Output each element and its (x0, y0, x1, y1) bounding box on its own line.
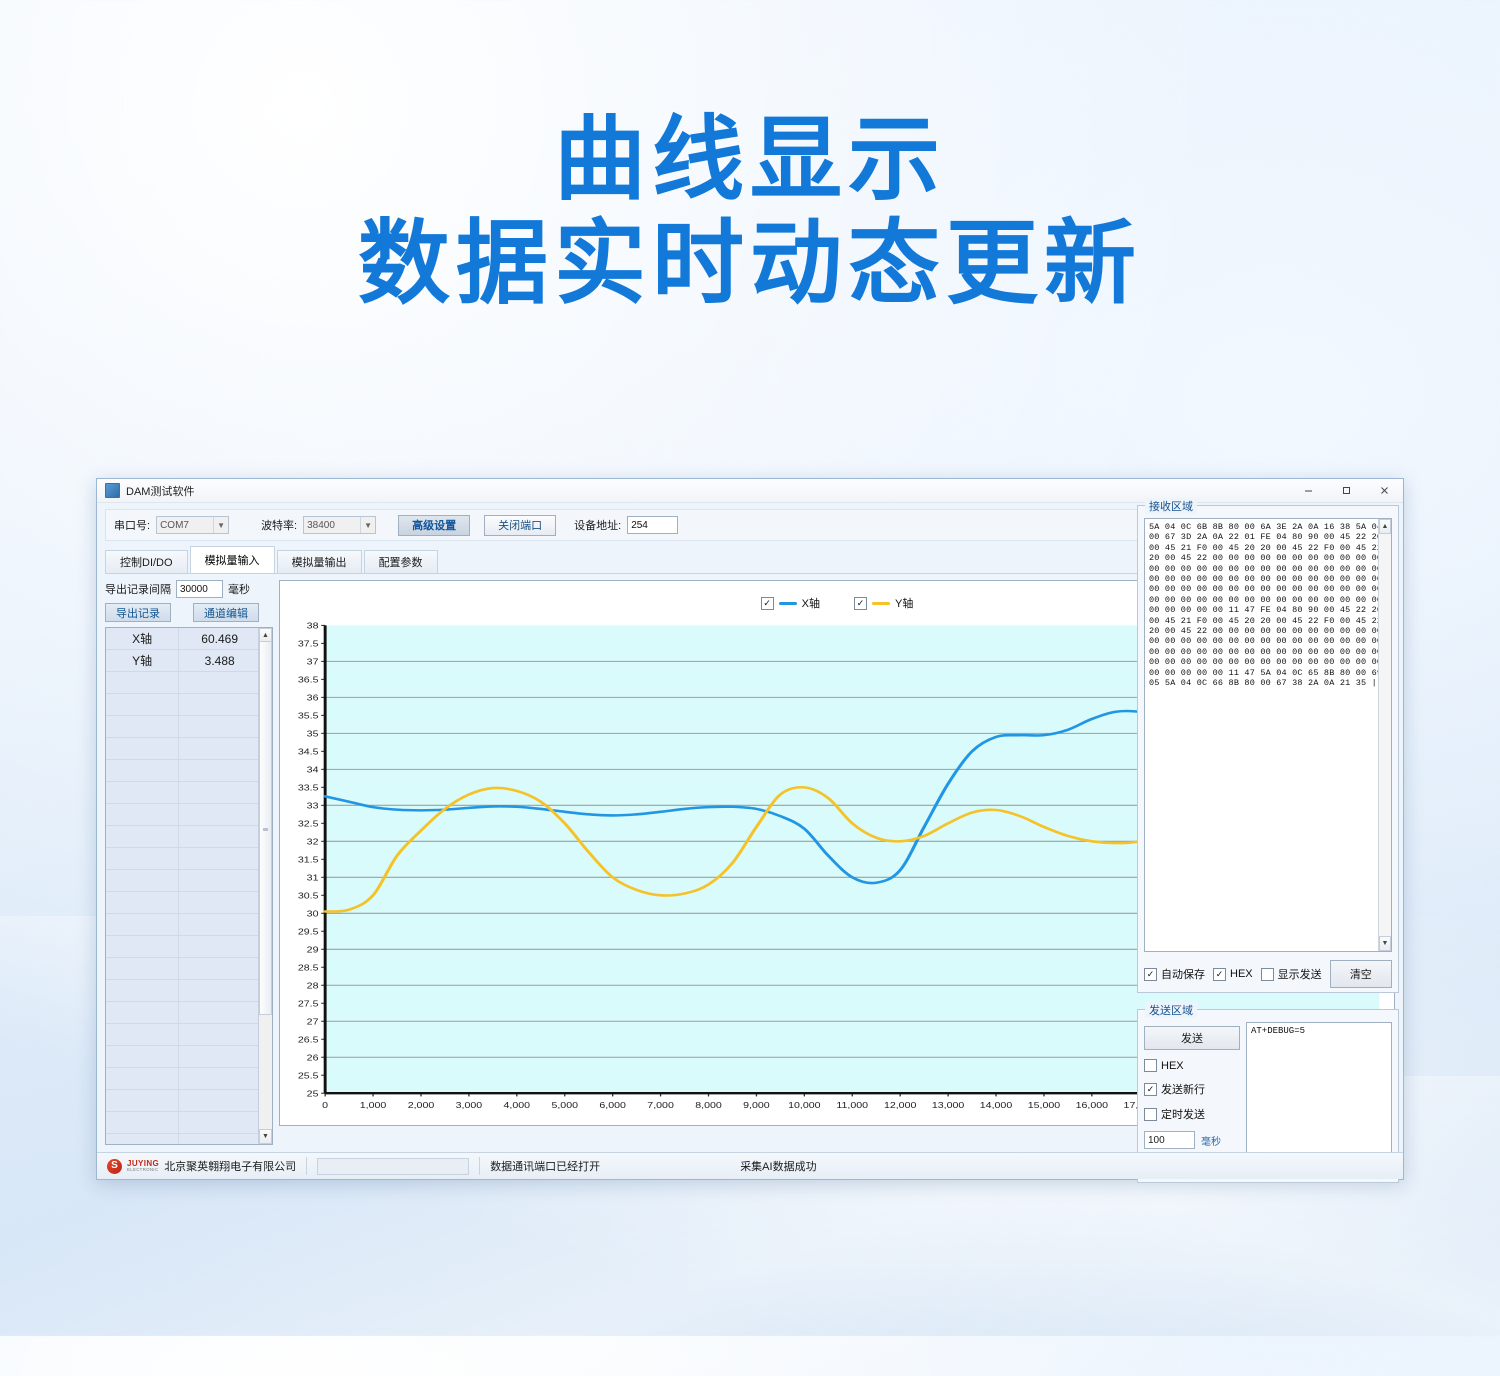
svg-text:35.5: 35.5 (298, 711, 319, 721)
svg-text:4,000: 4,000 (504, 1101, 531, 1111)
option-label: 自动保存 (1161, 966, 1205, 982)
baud-value: 38400 (307, 520, 360, 531)
table-row[interactable]: Y轴 3.488 (106, 650, 272, 672)
close-port-button[interactable]: 关闭端口 (484, 515, 556, 536)
receive-hex-content: 5A 04 0C 6B 8B 80 00 6A 3E 2A 0A 16 38 5… (1145, 519, 1391, 692)
baud-select[interactable]: 38400 ▼ (303, 516, 376, 534)
legend-label-y: Y轴 (895, 595, 913, 611)
port-value: COM7 (160, 520, 213, 531)
svg-text:25.5: 25.5 (298, 1071, 319, 1081)
legend-checkbox-x[interactable]: ✓ (761, 597, 774, 610)
table-row (106, 1090, 272, 1112)
option-send-newline[interactable]: ✓ 发送新行 (1144, 1081, 1240, 1097)
status-divider (306, 1157, 307, 1175)
table-row (106, 672, 272, 694)
table-row (106, 760, 272, 782)
checkbox-show-send[interactable] (1261, 968, 1274, 981)
legend-label-x: X轴 (802, 595, 820, 611)
status-message-2: 采集AI数据成功 (730, 1153, 826, 1179)
option-label: 定时发送 (1161, 1106, 1205, 1122)
table-row (106, 914, 272, 936)
status-bar: S JUYING ELECTRONIC 北京聚英翱翔电子有限公司 数据通讯端口已… (97, 1152, 1403, 1179)
export-interval-input[interactable]: 30000 (176, 580, 223, 598)
table-row (106, 870, 272, 892)
svg-text:6,000: 6,000 (599, 1101, 626, 1111)
legend-checkbox-y[interactable]: ✓ (854, 597, 867, 610)
svg-text:15,000: 15,000 (1028, 1101, 1060, 1111)
serial-side-panel: 接收区域 5A 04 0C 6B 8B 80 00 6A 3E 2A 0A 16… (1137, 505, 1399, 1145)
svg-text:33: 33 (307, 801, 319, 811)
promo-line-2: 数据实时动态更新 (0, 212, 1500, 316)
svg-text:37: 37 (307, 658, 319, 668)
option-show-send[interactable]: 显示发送 (1261, 966, 1322, 982)
restore-icon[interactable] (1327, 480, 1365, 502)
port-label: 串口号: (114, 517, 150, 533)
app-window: DAM测试软件 串口号: COM7 ▼ 波特率: 38400 ▼ 高级设置 关闭… (96, 478, 1404, 1180)
option-hex-send[interactable]: HEX (1144, 1059, 1240, 1072)
table-row (106, 1134, 272, 1146)
table-row (106, 848, 272, 870)
promo-headline: 曲线显示 数据实时动态更新 (0, 108, 1500, 316)
device-address-input[interactable]: 254 (627, 516, 678, 534)
tab-control-di-do[interactable]: 控制DI/DO (105, 550, 188, 573)
option-label: 显示发送 (1278, 966, 1322, 982)
svg-text:30: 30 (307, 909, 319, 919)
table-row (106, 958, 272, 980)
checkbox-hex-receive[interactable]: ✓ (1213, 968, 1226, 981)
legend-swatch-x (779, 602, 797, 605)
title-bar: DAM测试软件 (97, 479, 1403, 503)
table-row (106, 1046, 272, 1068)
receive-title: 接收区域 (1145, 498, 1197, 514)
close-icon[interactable] (1365, 480, 1403, 502)
scrollbar-thumb[interactable] (259, 641, 272, 1015)
svg-text:11,000: 11,000 (836, 1101, 868, 1111)
svg-text:38: 38 (307, 622, 319, 632)
table-row (106, 804, 272, 826)
svg-text:31: 31 (307, 873, 319, 883)
table-row (106, 892, 272, 914)
scroll-down-icon[interactable]: ▼ (259, 1129, 272, 1144)
baud-label: 波特率: (261, 517, 297, 533)
svg-text:26: 26 (307, 1053, 319, 1063)
checkbox-hex-send[interactable] (1144, 1059, 1157, 1072)
svg-text:2,000: 2,000 (408, 1101, 435, 1111)
send-interval-unit: 毫秒 (1201, 1133, 1221, 1148)
svg-text:28: 28 (307, 981, 319, 991)
receive-textarea[interactable]: 5A 04 0C 6B 8B 80 00 6A 3E 2A 0A 16 38 5… (1144, 518, 1392, 952)
receive-options-row: ✓ 自动保存 ✓ HEX 显示发送 清空 (1144, 960, 1392, 988)
svg-text:34.5: 34.5 (298, 747, 319, 757)
window-controls (1289, 480, 1403, 502)
svg-text:28.5: 28.5 (298, 963, 319, 973)
tab-analog-input[interactable]: 模拟量输入 (190, 546, 275, 573)
svg-text:16,000: 16,000 (1076, 1101, 1108, 1111)
svg-text:33.5: 33.5 (298, 783, 319, 793)
export-record-button[interactable]: 导出记录 (105, 603, 171, 622)
checkbox-send-newline[interactable]: ✓ (1144, 1083, 1157, 1096)
left-pane: 导出记录间隔 30000 毫秒 导出记录 通道编辑 X轴 60.469 Y轴 3… (105, 574, 273, 1126)
row-name: Y轴 (106, 650, 179, 672)
company-logo: S JUYING ELECTRONIC 北京聚英翱翔电子有限公司 (97, 1153, 306, 1179)
scroll-down-icon[interactable]: ▼ (1379, 936, 1391, 951)
table-row[interactable]: X轴 60.469 (106, 628, 272, 650)
svg-text:3,000: 3,000 (456, 1101, 483, 1111)
table-row (106, 1112, 272, 1134)
svg-text:27.5: 27.5 (298, 999, 319, 1009)
svg-text:0: 0 (322, 1101, 328, 1111)
svg-text:35: 35 (307, 729, 319, 739)
svg-text:34: 34 (307, 765, 320, 775)
left-pane-buttons: 导出记录 通道编辑 (105, 603, 273, 622)
window-title: DAM测试软件 (126, 483, 194, 499)
legend-swatch-y (872, 602, 890, 605)
svg-text:36: 36 (307, 693, 319, 703)
promo-line-1: 曲线显示 (0, 108, 1500, 212)
send-title: 发送区域 (1145, 1002, 1197, 1018)
svg-text:32.5: 32.5 (298, 819, 319, 829)
send-interval-row: 100 毫秒 (1144, 1131, 1240, 1149)
svg-text:14,000: 14,000 (980, 1101, 1012, 1111)
svg-text:36.5: 36.5 (298, 676, 319, 686)
table-row (106, 826, 272, 848)
svg-text:27: 27 (307, 1017, 319, 1027)
svg-text:29.5: 29.5 (298, 927, 319, 937)
app-icon (105, 483, 120, 498)
option-label: 发送新行 (1161, 1081, 1205, 1097)
table-row (106, 716, 272, 738)
option-hex-receive[interactable]: ✓ HEX (1213, 968, 1253, 981)
table-row (106, 1068, 272, 1090)
port-select[interactable]: COM7 ▼ (156, 516, 229, 534)
svg-text:10,000: 10,000 (788, 1101, 820, 1111)
grid-vertical-scrollbar[interactable]: ▲ ▼ (258, 628, 272, 1144)
logo-en-sub: ELECTRONIC (127, 1168, 159, 1172)
svg-text:30.5: 30.5 (298, 891, 319, 901)
tab-config-params[interactable]: 配置参数 (364, 550, 438, 573)
send-textarea[interactable]: AT+DEBUG=5 (1246, 1022, 1392, 1172)
option-auto-save[interactable]: ✓ 自动保存 (1144, 966, 1205, 982)
svg-text:1,000: 1,000 (360, 1101, 387, 1111)
legend-item-y[interactable]: ✓ Y轴 (854, 595, 913, 611)
export-interval-unit: 毫秒 (228, 581, 250, 597)
send-area: 发送 HEX ✓ 发送新行 定时发送 100 毫秒 (1144, 1022, 1392, 1172)
device-address-label: 设备地址: (574, 517, 621, 533)
send-controls: 发送 HEX ✓ 发送新行 定时发送 100 毫秒 (1144, 1022, 1240, 1172)
send-button[interactable]: 发送 (1144, 1026, 1240, 1050)
table-row (106, 980, 272, 1002)
status-progress (317, 1158, 469, 1175)
option-label: HEX (1230, 968, 1253, 980)
scroll-up-icon[interactable]: ▲ (1379, 519, 1391, 534)
table-row (106, 936, 272, 958)
svg-text:13,000: 13,000 (932, 1101, 964, 1111)
table-row (106, 694, 272, 716)
send-interval-input[interactable]: 100 (1144, 1131, 1195, 1149)
svg-text:8,000: 8,000 (695, 1101, 722, 1111)
advanced-settings-button[interactable]: 高级设置 (398, 515, 470, 536)
row-name: X轴 (106, 628, 179, 650)
tab-analog-output[interactable]: 模拟量输出 (277, 550, 362, 573)
checkbox-auto-save[interactable]: ✓ (1144, 968, 1157, 981)
svg-text:9,000: 9,000 (743, 1101, 770, 1111)
option-timed-send[interactable]: 定时发送 (1144, 1106, 1240, 1122)
svg-text:32: 32 (307, 837, 319, 847)
chevron-down-icon: ▼ (360, 517, 375, 533)
svg-text:26.5: 26.5 (298, 1035, 319, 1045)
table-row (106, 1002, 272, 1024)
juying-logo-icon: S (107, 1159, 122, 1174)
svg-text:25: 25 (307, 1089, 319, 1099)
status-message-1: 数据通讯端口已经打开 (480, 1153, 730, 1179)
clear-button[interactable]: 清空 (1330, 960, 1392, 988)
svg-text:7,000: 7,000 (647, 1101, 674, 1111)
receive-group: 接收区域 5A 04 0C 6B 8B 80 00 6A 3E 2A 0A 16… (1137, 505, 1399, 993)
svg-text:12,000: 12,000 (884, 1101, 916, 1111)
checkbox-timed-send[interactable] (1144, 1108, 1157, 1121)
svg-text:37.5: 37.5 (298, 640, 319, 650)
svg-text:29: 29 (307, 945, 319, 955)
table-row (106, 1024, 272, 1046)
table-row (106, 738, 272, 760)
logo-text: JUYING ELECTRONIC (127, 1160, 159, 1172)
option-label: HEX (1161, 1060, 1184, 1072)
company-name-cn: 北京聚英翱翔电子有限公司 (164, 1158, 296, 1174)
minimize-icon[interactable] (1289, 480, 1327, 502)
export-interval-label: 导出记录间隔 (105, 581, 171, 597)
export-interval-row: 导出记录间隔 30000 毫秒 (105, 580, 273, 598)
table-row (106, 782, 272, 804)
legend-item-x[interactable]: ✓ X轴 (761, 595, 820, 611)
svg-text:31.5: 31.5 (298, 855, 319, 865)
chevron-down-icon: ▼ (213, 517, 228, 533)
channel-edit-button[interactable]: 通道编辑 (193, 603, 259, 622)
receive-scrollbar[interactable]: ▲ ▼ (1378, 519, 1391, 951)
channel-value-grid: X轴 60.469 Y轴 3.488 (105, 627, 273, 1145)
svg-text:5,000: 5,000 (551, 1101, 578, 1111)
